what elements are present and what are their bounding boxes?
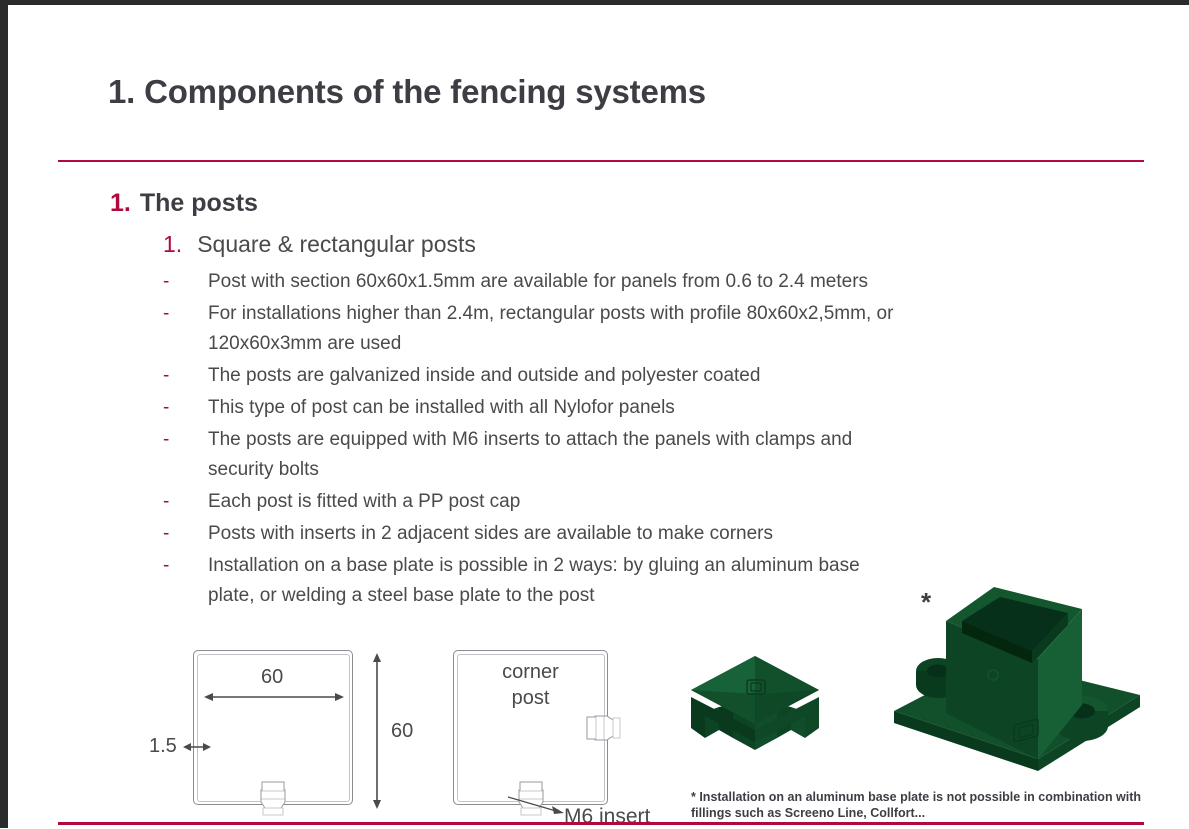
footnote-text: * Installation on an aluminum base plate… — [691, 789, 1161, 821]
width-dimension-label: 60 — [261, 666, 283, 689]
corner-post-label-line1: corner — [453, 659, 608, 685]
thickness-dimension-arrow — [183, 741, 211, 753]
corner-post-label: corner post — [453, 659, 608, 711]
height-dimension-label: 60 — [391, 720, 413, 743]
viewer-left-edge — [0, 0, 8, 828]
footer-divider-rule — [58, 822, 1144, 825]
slide-page: 1. Components of the fencing systems 1.T… — [8, 5, 1189, 828]
m6-insert-callout-label: M6 insert — [564, 805, 650, 829]
width-dimension-arrow — [204, 691, 344, 703]
figures-row: 60 60 1.5 — [8, 5, 1189, 828]
height-dimension-arrow — [371, 653, 383, 809]
m6-insert-icon — [254, 782, 292, 814]
m6-insert-side-icon — [587, 709, 619, 747]
footnote-asterisk-marker: * — [921, 587, 931, 618]
thickness-dimension-label: 1.5 — [149, 735, 177, 758]
pp-post-cap-render — [673, 650, 838, 775]
m6-insert-callout-leader — [508, 797, 568, 819]
corner-post-label-line2: post — [453, 685, 608, 711]
